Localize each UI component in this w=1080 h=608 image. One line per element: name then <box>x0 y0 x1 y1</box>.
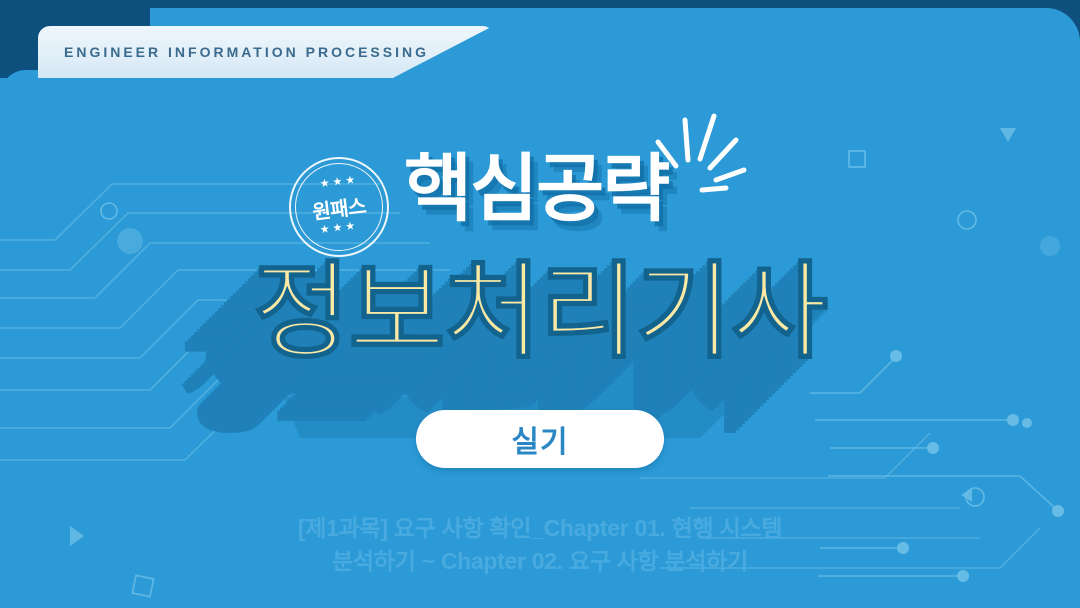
headline-text: 핵심공략 <box>404 152 668 226</box>
onepass-badge: ★★★ 원패스 ★★★ <box>289 157 389 257</box>
subtitle-line-2: 분석하기 ~ Chapter 02. 요구 사항 분석하기 <box>160 545 920 578</box>
main-title-wrap: 정보처리기사 <box>0 258 1080 368</box>
exam-type-label: 실기 <box>511 417 568 461</box>
main-panel: ENGINEER INFORMATION PROCESSING ★★★ 원패스 … <box>0 8 1080 608</box>
slide-root: ENGINEER INFORMATION PROCESSING ★★★ 원패스 … <box>0 0 1080 608</box>
exam-type-pill[interactable]: 실기 <box>416 410 664 468</box>
header-banner: ENGINEER INFORMATION PROCESSING <box>38 26 493 78</box>
subtitle: [제1과목] 요구 사항 확인_Chapter 01. 현행 시스템 분석하기 … <box>160 512 920 579</box>
main-title: 정보처리기사 <box>253 258 827 368</box>
panel-left-rounded-corner <box>0 70 200 130</box>
header-banner-text: ENGINEER INFORMATION PROCESSING <box>64 44 429 60</box>
subtitle-line-1: [제1과목] 요구 사항 확인_Chapter 01. 현행 시스템 <box>160 512 920 545</box>
